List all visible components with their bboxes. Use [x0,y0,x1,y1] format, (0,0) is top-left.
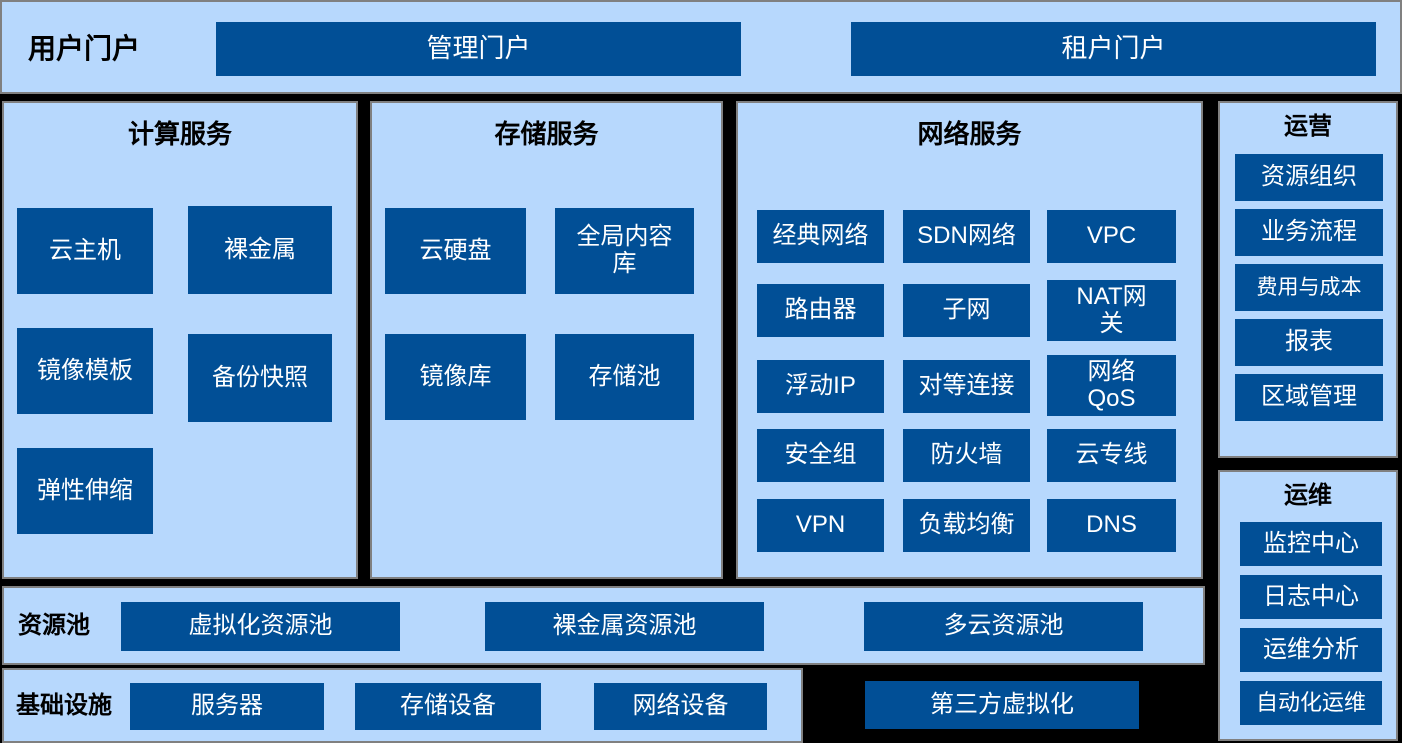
service-chip-sdn-network[interactable]: SDN网络 [903,210,1030,263]
service-chip-dns[interactable]: DNS [1047,499,1176,552]
ops-chip-business-process[interactable]: 业务流程 [1235,209,1383,256]
service-chip-peering-connection[interactable]: 对等连接 [903,360,1030,413]
infrastructure-label: 基础设施 [16,670,112,741]
service-chip-cloud-dedicated-line[interactable]: 云专线 [1047,429,1176,482]
oam-chip-automated-oam[interactable]: 自动化运维 [1240,681,1382,725]
operations-maintenance-title: 运维 [1220,484,1396,508]
compute-services-panel: 计算服务 云主机 裸金属 镜像模板 备份快照 弹性伸缩 [2,101,358,579]
resource-pool-row: 资源池 虚拟化资源池 裸金属资源池 多云资源池 [2,586,1205,665]
storage-services-panel: 存储服务 云硬盘 全局内容 库 镜像库 存储池 [370,101,723,579]
service-chip-storage-pool[interactable]: 存储池 [555,334,694,420]
operations-maintenance-panel: 运维 监控中心 日志中心 运维分析 自动化运维 [1218,470,1398,741]
infrastructure-chip-storage-device[interactable]: 存储设备 [355,683,541,730]
service-chip-image-template[interactable]: 镜像模板 [17,328,153,414]
portal-chip-management[interactable]: 管理门户 [216,22,741,76]
service-chip-floating-ip[interactable]: 浮动IP [757,360,884,413]
service-chip-load-balancer[interactable]: 负载均衡 [903,499,1030,552]
service-chip-security-group[interactable]: 安全组 [757,429,884,482]
service-chip-elastic-scaling[interactable]: 弹性伸缩 [17,448,153,534]
service-chip-classic-network[interactable]: 经典网络 [757,210,884,263]
resource-pool-chip-multi-cloud[interactable]: 多云资源池 [864,602,1143,651]
user-portal-label: 用户门户 [28,2,140,96]
infrastructure-chip-third-party-virtualization[interactable]: 第三方虚拟化 [865,681,1139,729]
infrastructure-chip-server[interactable]: 服务器 [130,683,324,730]
service-chip-subnet[interactable]: 子网 [903,284,1030,337]
architecture-diagram: 用户门户 管理门户 租户门户 计算服务 云主机 裸金属 镜像模板 备份快照 弹性… [0,0,1402,743]
service-chip-global-content-library[interactable]: 全局内容 库 [555,208,694,294]
service-chip-firewall[interactable]: 防火墙 [903,429,1030,482]
service-chip-nat-gateway[interactable]: NAT网 关 [1047,280,1176,341]
ops-chip-region-management[interactable]: 区域管理 [1235,374,1383,421]
ops-chip-resource-organization[interactable]: 资源组织 [1235,154,1383,201]
ops-chip-cost-and-billing[interactable]: 费用与成本 [1235,264,1383,311]
service-chip-image-library[interactable]: 镜像库 [385,334,526,420]
resource-pool-chip-bare-metal[interactable]: 裸金属资源池 [485,602,764,651]
resource-pool-chip-virtualization[interactable]: 虚拟化资源池 [121,602,400,651]
portal-chip-tenant[interactable]: 租户门户 [851,22,1376,76]
user-portal-bar: 用户门户 管理门户 租户门户 [0,0,1402,94]
operations-panel: 运营 资源组织 业务流程 费用与成本 报表 区域管理 [1218,101,1398,458]
service-chip-vpc[interactable]: VPC [1047,210,1176,263]
infrastructure-row: 基础设施 服务器 存储设备 网络设备 [2,668,803,743]
service-chip-backup-snapshot[interactable]: 备份快照 [188,334,332,422]
service-chip-vpn[interactable]: VPN [757,499,884,552]
oam-chip-monitoring-center[interactable]: 监控中心 [1240,522,1382,566]
network-services-title: 网络服务 [738,121,1201,147]
service-chip-network-qos[interactable]: 网络 QoS [1047,355,1176,416]
service-chip-router[interactable]: 路由器 [757,284,884,337]
storage-services-title: 存储服务 [372,121,721,147]
service-chip-bare-metal[interactable]: 裸金属 [188,206,332,294]
network-services-panel: 网络服务 经典网络 SDN网络 VPC 路由器 子网 NAT网 关 浮动IP 对… [736,101,1203,579]
compute-services-title: 计算服务 [4,121,356,147]
service-chip-cloud-disk[interactable]: 云硬盘 [385,208,526,294]
infrastructure-chip-network-device[interactable]: 网络设备 [594,683,767,730]
service-chip-cloud-host[interactable]: 云主机 [17,208,153,294]
oam-chip-oam-analytics[interactable]: 运维分析 [1240,628,1382,672]
resource-pool-label: 资源池 [18,588,90,663]
ops-chip-reports[interactable]: 报表 [1235,319,1383,366]
operations-title: 运营 [1220,115,1396,139]
oam-chip-log-center[interactable]: 日志中心 [1240,575,1382,619]
